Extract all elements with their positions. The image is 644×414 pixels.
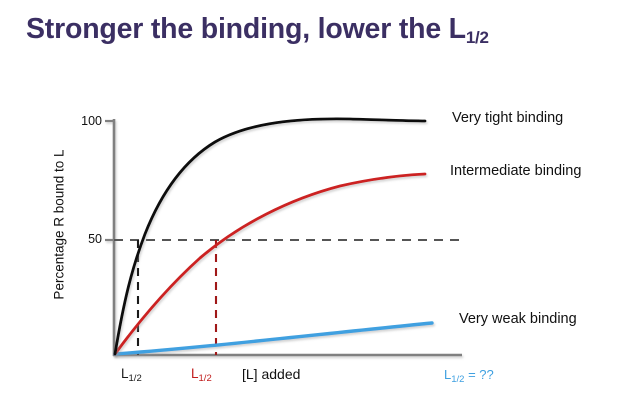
curve-very-weak-binding	[115, 323, 432, 354]
series-label-very-weak-binding: Very weak binding	[459, 311, 577, 327]
x-axis-title: [L] added	[242, 366, 300, 382]
chart-svg	[0, 0, 644, 414]
slide-canvas: Stronger the binding, lower the L1/2	[0, 0, 644, 414]
y-axis-tick-label-50: 50	[62, 232, 102, 246]
annotation-lhalf-tight-base: L	[121, 366, 129, 381]
series-label-very-tight-binding: Very tight binding	[452, 110, 563, 126]
annotation-lhalf-intermediate-sub: 1/2	[199, 373, 212, 384]
annotation-lhalf-weak-suffix: = ??	[464, 367, 493, 382]
annotation-lhalf-intermediate-base: L	[191, 366, 199, 381]
annotation-lhalf-tight-sub: 1/2	[129, 373, 142, 384]
chart-axes	[105, 119, 462, 356]
annotation-lhalf-tight: L1/2	[121, 366, 142, 381]
annotation-lhalf-weak: L1/2 = ??	[444, 367, 494, 382]
curve-very-tight-binding	[115, 119, 425, 354]
series-label-intermediate-binding: Intermediate binding	[450, 163, 581, 179]
binding-curve-chart	[0, 0, 644, 414]
y-axis-title: Percentage R bound to L	[52, 110, 67, 340]
annotation-lhalf-intermediate: L1/2	[191, 366, 212, 381]
y-axis-tick-label-100: 100	[62, 114, 102, 128]
annotation-lhalf-weak-sub: 1/2	[451, 374, 464, 385]
